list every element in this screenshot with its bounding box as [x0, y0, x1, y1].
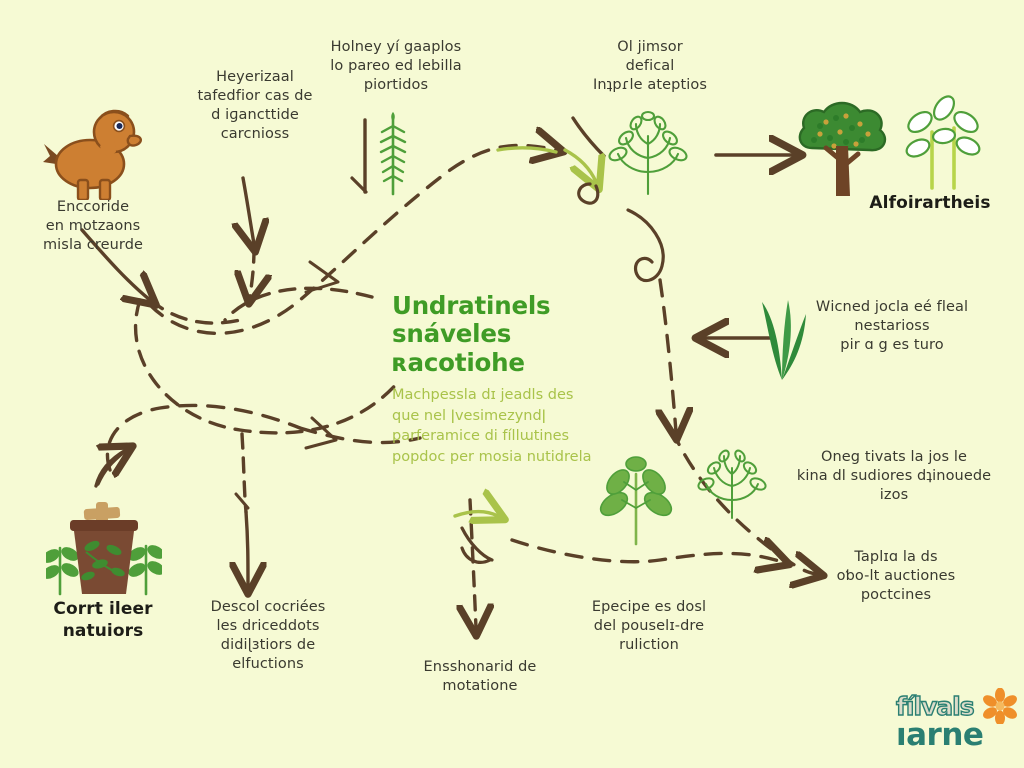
arrow-ann-topleft-down2 [250, 248, 254, 296]
label-compost: Corrt ileer natuiors [18, 598, 188, 643]
hero-block: Undratinels snáveles ʀacotiohe Machpessl… [392, 292, 638, 468]
hero-subtitle: Machpessla dɪ jeadls des que nel ǀvesime… [392, 385, 638, 467]
flow-curl-bottom2 [462, 548, 490, 562]
annotation-bottom-right: Epecipe es dosl del pouselɪ-dre rulictio… [568, 598, 730, 655]
arrow-down-bottommid [470, 500, 476, 628]
annotation-animal: Enccoride en motzаons misla creurde [8, 198, 178, 255]
flow-path-a [225, 288, 372, 320]
annotation-right-lower: Taplɪɑ la ds oƅo-lt auctiones poctcines [800, 548, 992, 605]
flower-icon [982, 688, 1018, 728]
hero-title: Undratinels snáveles ʀacotiohe [392, 292, 638, 377]
annotation-right-mid: Oneg tivats la jos le kina dl sudiores d… [788, 448, 1000, 505]
tick-bottomleft [236, 494, 248, 508]
herb-sprig-icon [604, 110, 692, 196]
arrow-up-to-compost [96, 450, 126, 486]
annotation-top-mid: Holney yí gaaplos lo pareo ed lebilla pi… [310, 38, 482, 95]
annotation-top-left: Heyerizaal tafedfior cas de d iɡancttide… [180, 68, 330, 145]
sapling-icon [898, 92, 988, 194]
arrowhead-mid-left [306, 418, 336, 448]
flow-curl-top [579, 184, 598, 203]
divider-stick-tick [352, 178, 366, 192]
compost-bin-icon [46, 502, 162, 598]
annotation-top-right: Ol jimsor defical Inʇpɾle ateptios [570, 38, 730, 95]
annotation-bottom-left: Descol cocriées les driceddots didiɭɜtio… [192, 598, 344, 675]
arrow-lime-bottom [455, 512, 498, 517]
tree-icon [790, 96, 896, 198]
duck-animal-icon [40, 104, 150, 200]
arrowhead-mid-top [306, 262, 338, 292]
arrow-lime-top-tail [498, 148, 556, 152]
annotation-bottom-mid: Ensshonarid de motatione [396, 658, 564, 696]
flow-bottom-left-lobe [107, 405, 300, 470]
arrow-ann-topright-down [573, 118, 604, 156]
flow-seg-1 [150, 300, 240, 323]
flow-curl-bottom [462, 528, 492, 560]
brand-logo: fílvals ıarne [896, 694, 1016, 751]
flow-path-left-lower [136, 300, 400, 433]
flow-right-down [660, 280, 676, 432]
leafy-branch-icon-right [694, 448, 770, 520]
flow-bottom-left-tail [98, 452, 124, 484]
infographic-canvas: Enccoride en motzаons misla creurde [0, 0, 1024, 768]
arrow-down-bottomleft [246, 512, 248, 586]
annotation-right-upper: Wіcned jocla eé fleal nestarioss pir ɑ g… [792, 298, 992, 355]
flow-curl-right [628, 210, 663, 281]
arrow-lime-top [565, 150, 596, 182]
arrow-ann-topleft-down [243, 178, 254, 244]
grain-stalk-icon [376, 112, 410, 196]
label-tree: Alfoirartheis [840, 192, 1020, 214]
flow-down-bottomleft [242, 434, 246, 512]
